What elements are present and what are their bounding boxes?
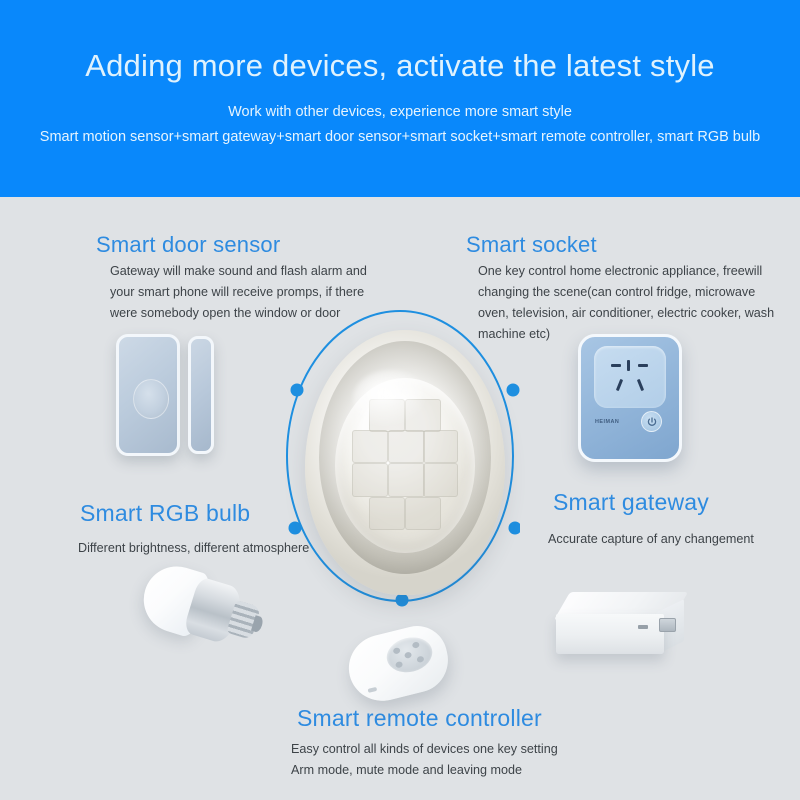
rgb-bulb-title: Smart RGB bulb [80,500,250,527]
connection-node-top-right [507,384,520,397]
rgb-bulb-description: Different brightness, different atmosphe… [78,538,309,559]
socket-title: Smart socket [466,232,597,258]
connection-node-top-left [291,384,304,397]
remote-controller-description: Easy control all kinds of devices one ke… [291,739,558,781]
rgb-bulb-line-1: Different brightness, different atmosphe… [78,538,309,559]
gateway-line-1: Accurate capture of any changement [548,529,754,550]
door-sensor-line-2: your smart phone will receive promps, if… [110,282,367,303]
smart-rgb-bulb-device [127,547,273,685]
infographic-page: Adding more devices, activate the latest… [0,0,800,800]
smart-door-sensor-device [108,328,226,466]
remote-controller-title: Smart remote controller [297,705,542,732]
socket-line-1: One key control home electronic applianc… [478,261,774,282]
smart-socket-device: HEIMAN [578,334,682,462]
power-icon [641,411,662,432]
gateway-title: Smart gateway [553,489,709,516]
smart-remote-controller-device [340,612,463,719]
banner-subtitle-secondary: Smart motion sensor+smart gateway+smart … [0,129,800,145]
remote-shell [342,620,455,708]
remote-keypad [383,633,436,677]
remote-controller-line-2: Arm mode, mute mode and leaving mode [291,760,558,781]
socket-description: One key control home electronic applianc… [478,261,774,345]
banner-subtitle-primary: Work with other devices, experience more… [0,104,800,120]
door-sensor-magnet-strip [188,336,214,454]
door-sensor-description: Gateway will make sound and flash alarm … [110,261,367,324]
motion-sensor-highlight [353,370,429,428]
connection-node-bottom [396,594,409,607]
door-sensor-button [133,379,169,419]
door-sensor-line-3: were somebody open the window or door [110,303,367,324]
socket-brand-label: HEIMAN [595,419,619,425]
connection-node-bottom-right [509,522,521,535]
smart-motion-sensor-device [305,330,505,595]
gateway-front-face [556,614,664,654]
remote-led-indicator [368,687,378,693]
socket-line-2: changing the scene(can control fridge, m… [478,282,774,303]
gateway-description: Accurate capture of any changement [548,529,754,550]
connection-node-bottom-left [289,522,302,535]
ethernet-port-icon [659,618,676,632]
header-banner: Adding more devices, activate the latest… [0,0,800,197]
remote-controller-line-1: Easy control all kinds of devices one ke… [291,739,558,760]
usb-port-icon [638,625,648,629]
door-sensor-main-unit [116,334,180,456]
socket-line-3: oven, television, air conditioner, elect… [478,303,774,324]
socket-outlet-face [594,346,666,408]
banner-title: Adding more devices, activate the latest… [0,48,800,84]
smart-gateway-device [556,592,688,664]
door-sensor-line-1: Gateway will make sound and flash alarm … [110,261,367,282]
door-sensor-title: Smart door sensor [96,232,280,258]
